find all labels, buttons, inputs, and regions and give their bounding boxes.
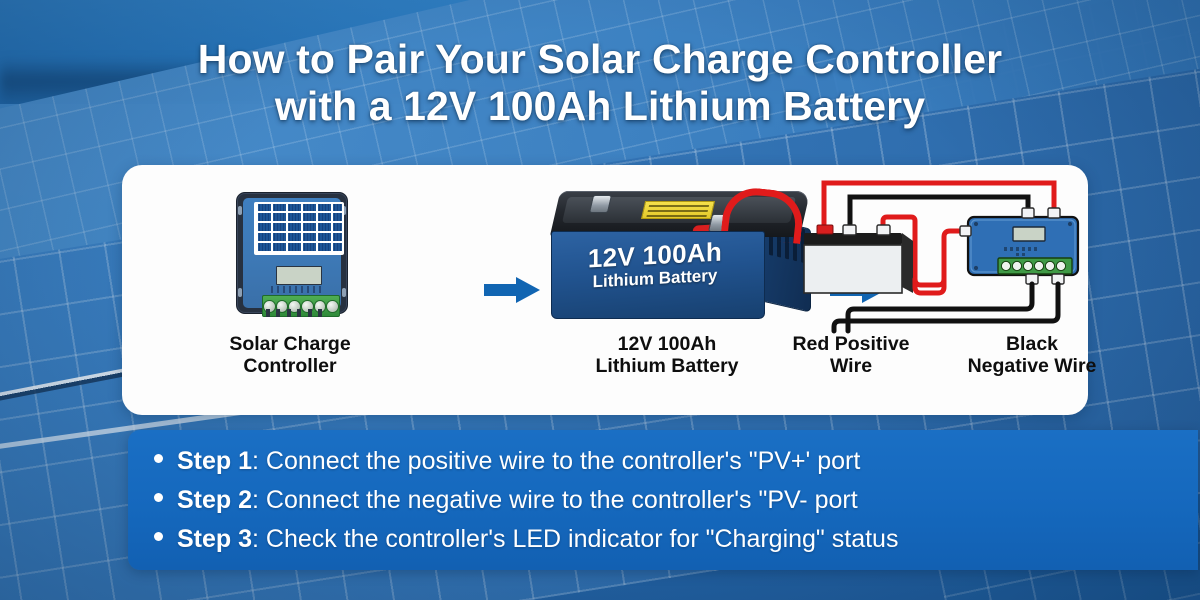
title-line-1: How to Pair Your Solar Charge Controller — [198, 36, 1002, 82]
step-3-text: : Check the controller's LED indicator f… — [252, 520, 898, 559]
caption-scc-line2: Controller — [243, 355, 336, 377]
step-2-label: Step 2 — [177, 481, 252, 520]
step-2-text: : Connect the negative wire to the contr… — [252, 481, 858, 520]
caption-black-negative-wire: Black Negative Wire — [932, 333, 1132, 377]
page-title: How to Pair Your Solar Charge Controller… — [0, 36, 1200, 130]
caption-scc-line1: Solar Charge — [229, 333, 350, 355]
lithium-battery-icon: 12V 100Ah Lithium Battery — [547, 187, 817, 322]
caption-solar-charge-controller: Solar Charge Controller — [130, 333, 450, 377]
controller-lcd-display — [276, 266, 322, 285]
diagram-card: Solar Charge Controller 12V 100Ah Lithiu… — [122, 165, 1088, 415]
caption-batt-line1: 12V 100Ah — [618, 333, 717, 355]
step-1-label: Step 1 — [177, 442, 252, 481]
step-1-text: : Connect the positive wire to the contr… — [252, 442, 860, 481]
battery-body-text: 12V 100Ah Lithium Battery — [557, 236, 753, 294]
step-item-3: Step 3 : Check the controller's LED indi… — [128, 520, 1198, 559]
bullet-icon — [154, 454, 163, 463]
caption-red-line2: Wire — [830, 355, 872, 377]
bullet-icon — [154, 493, 163, 502]
wiring-diagram-svg — [782, 175, 1088, 335]
stage-wiring-diagram: Red Positive Wire Black Negative Wire — [782, 165, 1088, 415]
controller-terminal-pins — [259, 309, 329, 317]
steps-panel: Step 1 : Connect the positive wire to th… — [128, 430, 1198, 570]
stage-lithium-battery: 12V 100Ah Lithium Battery 12V 100Ah Lith… — [422, 165, 822, 415]
caption-red-positive-wire: Red Positive Wire — [756, 333, 946, 377]
title-line-2: with a 12V 100Ah Lithium Battery — [0, 83, 1200, 130]
step-3-label: Step 3 — [177, 520, 252, 559]
battery-warning-label — [641, 201, 715, 219]
caption-batt-line2: Lithium Battery — [595, 355, 738, 377]
caption-red-line1: Red Positive — [792, 333, 909, 355]
bullet-icon — [154, 532, 163, 541]
step-item-1: Step 1 : Connect the positive wire to th… — [128, 442, 1198, 481]
controller-pv-panel — [254, 202, 344, 255]
stage-solar-charge-controller: Solar Charge Controller — [130, 165, 450, 415]
caption-black-line2: Negative Wire — [968, 355, 1097, 377]
solar-charge-controller-icon — [236, 192, 348, 314]
caption-black-line1: Black — [1006, 333, 1058, 355]
controller-print-text — [271, 286, 325, 293]
step-item-2: Step 2 : Connect the negative wire to th… — [128, 481, 1198, 520]
